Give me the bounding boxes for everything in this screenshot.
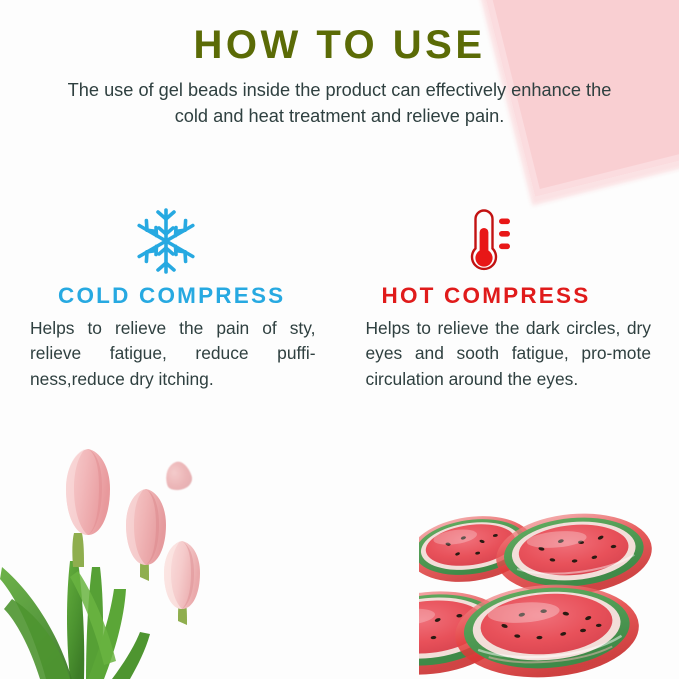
infographic-page: HOW TO USE The use of gel beads inside t… — [0, 0, 679, 679]
page-subtitle: The use of gel beads inside the product … — [60, 66, 620, 130]
cold-compress-section: COLD COMPRESS Helps to relieve the pain … — [0, 200, 340, 392]
header: HOW TO USE The use of gel beads inside t… — [0, 0, 679, 130]
hot-compress-section: HOT COMPRESS Helps to relieve the dark c… — [340, 200, 679, 392]
hot-compress-heading: HOT COMPRESS — [366, 282, 652, 309]
cold-compress-body: Helps to relieve the pain of sty, reliev… — [30, 309, 316, 392]
watermelon-gel-packs — [419, 509, 679, 679]
cold-compress-heading: COLD COMPRESS — [30, 282, 316, 309]
thermometer-icon — [366, 200, 652, 282]
tulip-bouquet — [0, 449, 270, 679]
page-title: HOW TO USE — [0, 0, 679, 66]
compress-sections: COLD COMPRESS Helps to relieve the pain … — [0, 200, 679, 392]
snowflake-icon — [30, 200, 316, 282]
hot-compress-body: Helps to relieve the dark circles, dry e… — [366, 309, 652, 392]
